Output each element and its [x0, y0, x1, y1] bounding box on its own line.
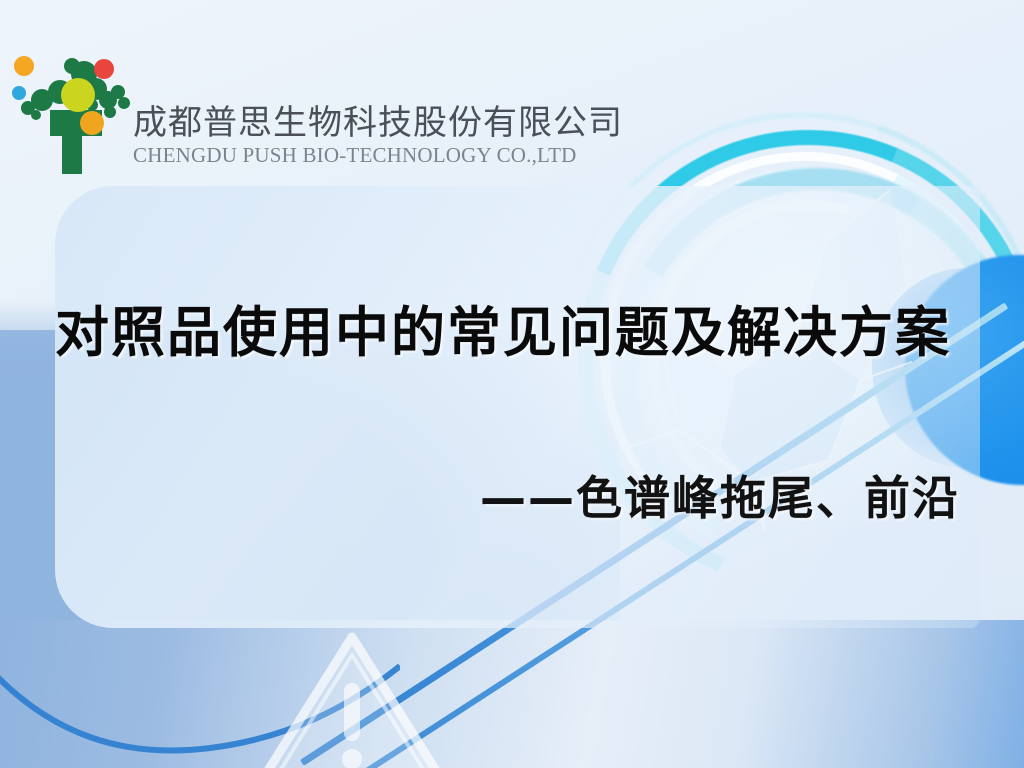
logo-dot-yellow-green	[61, 78, 95, 112]
content-panel	[55, 186, 980, 628]
presentation-slide: 成都普思生物科技股份有限公司 CHENGDU PUSH BIO-TECHNOLO…	[0, 0, 1024, 768]
background-bottom-blue-band	[0, 620, 1024, 768]
company-name-en: CHENGDU PUSH BIO-TECHNOLOGY CO.,LTD	[133, 143, 693, 167]
decor-curved-line	[0, 630, 400, 768]
company-identity: 成都普思生物科技股份有限公司 CHENGDU PUSH BIO-TECHNOLO…	[133, 104, 693, 167]
logo-dot-blue	[12, 86, 26, 100]
warning-triangle-icon	[252, 625, 452, 768]
company-name-cn: 成都普思生物科技股份有限公司	[133, 104, 693, 142]
logo-dot-amber-inner	[80, 111, 104, 135]
push-bio-tree-logo	[6, 48, 136, 176]
slide-title: 对照品使用中的常见问题及解决方案	[55, 288, 985, 367]
logo-dot-amber-outer	[14, 56, 34, 76]
logo-dot-red	[94, 59, 114, 79]
slide-subtitle: ——色谱峰拖尾、前沿	[55, 462, 960, 528]
